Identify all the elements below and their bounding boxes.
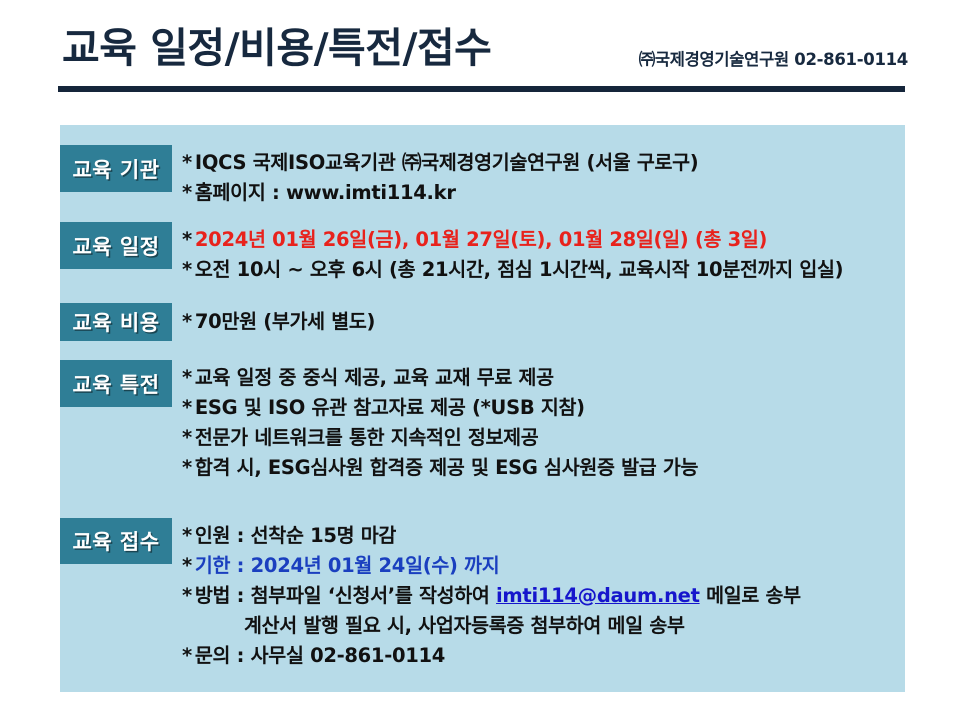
section-lines-organization: *IQCS 국제ISO교육기관 ㈜국제경영기술연구원 (서울 구로구) *홈페이… bbox=[182, 148, 902, 208]
section-label-organization: 교육 기관 bbox=[60, 145, 172, 192]
bullet-asterisk: * bbox=[182, 228, 192, 251]
bullet-asterisk: * bbox=[182, 524, 192, 547]
list-item-continuation: 계산서 발행 필요 시, 사업자등록증 첨부하여 메일 송부 bbox=[182, 611, 902, 641]
list-item: *오전 10시 ~ 오후 6시 (총 21시간, 점심 1시간씩, 교육시작 1… bbox=[182, 255, 902, 285]
bullet-asterisk: * bbox=[182, 396, 192, 419]
list-item: *ESG 및 ISO 유관 참고자료 제공 (*USB 지참) bbox=[182, 393, 902, 423]
list-item-method: *방법 : 첨부파일 ‘신청서’를 작성하여 imti114@daum.net … bbox=[182, 581, 902, 611]
list-item-text: IQCS 국제ISO교육기관 ㈜국제경영기술연구원 (서울 구로구) bbox=[195, 151, 699, 174]
bullet-asterisk: * bbox=[182, 584, 192, 607]
content-panel: 교육 기관 *IQCS 국제ISO교육기관 ㈜국제경영기술연구원 (서울 구로구… bbox=[60, 125, 905, 692]
list-item-text: 홈페이지 : www.imti114.kr bbox=[195, 181, 456, 204]
slide-header: 교육 일정/비용/특전/접수 ㈜국제경영기술연구원 02-861-0114 bbox=[0, 0, 960, 100]
header-contact-info: ㈜국제경영기술연구원 02-861-0114 bbox=[639, 46, 908, 70]
section-lines-cost: *70만원 (부가세 별도) bbox=[182, 307, 902, 337]
bullet-asterisk: * bbox=[182, 310, 192, 333]
list-item-text: 교육 일정 중 중식 제공, 교육 교재 무료 제공 bbox=[195, 366, 554, 389]
section-lines-benefits: *교육 일정 중 중식 제공, 교육 교재 무료 제공 *ESG 및 ISO 유… bbox=[182, 363, 902, 483]
section-label-application: 교육 접수 bbox=[60, 518, 172, 564]
list-item-deadline: *기한 : 2024년 01월 24일(수) 까지 bbox=[182, 551, 902, 581]
bullet-asterisk: * bbox=[182, 181, 192, 204]
list-item-text: ESG 및 ISO 유관 참고자료 제공 (*USB 지참) bbox=[195, 396, 585, 419]
list-item: *IQCS 국제ISO교육기관 ㈜국제경영기술연구원 (서울 구로구) bbox=[182, 148, 902, 178]
bullet-asterisk: * bbox=[182, 644, 192, 667]
bullet-asterisk: * bbox=[182, 366, 192, 389]
list-item-inquiry: *문의 : 사무실 02-861-0114 bbox=[182, 641, 902, 671]
list-item: *인원 : 선착순 15명 마감 bbox=[182, 521, 902, 551]
section-label-benefits: 교육 특전 bbox=[60, 360, 172, 407]
bullet-asterisk: * bbox=[182, 554, 192, 577]
bullet-asterisk: * bbox=[182, 258, 192, 281]
list-item: *교육 일정 중 중식 제공, 교육 교재 무료 제공 bbox=[182, 363, 902, 393]
list-item-text-before: 방법 : 첨부파일 ‘신청서’를 작성하여 bbox=[195, 584, 496, 607]
list-item-text: 인원 : 선착순 15명 마감 bbox=[195, 524, 396, 547]
header-divider bbox=[58, 86, 905, 92]
list-item-text: 계산서 발행 필요 시, 사업자등록증 첨부하여 메일 송부 bbox=[244, 614, 685, 637]
bullet-asterisk: * bbox=[182, 426, 192, 449]
section-label-cost: 교육 비용 bbox=[60, 303, 172, 341]
list-item-text: 2024년 01월 26일(금), 01월 27일(토), 01월 28일(일)… bbox=[195, 228, 767, 251]
list-item: *홈페이지 : www.imti114.kr bbox=[182, 178, 902, 208]
list-item-text-after: 메일로 송부 bbox=[700, 584, 801, 607]
list-item-text: 70만원 (부가세 별도) bbox=[195, 310, 375, 333]
bullet-asterisk: * bbox=[182, 151, 192, 174]
list-item-text: 합격 시, ESG심사원 합격증 제공 및 ESG 심사원증 발급 가능 bbox=[195, 456, 698, 479]
list-item-text: 기한 : 2024년 01월 24일(수) 까지 bbox=[195, 554, 499, 577]
list-item-text: 전문가 네트워크를 통한 지속적인 정보제공 bbox=[195, 426, 538, 449]
section-label-schedule: 교육 일정 bbox=[60, 222, 172, 269]
page-title: 교육 일정/비용/특전/접수 bbox=[62, 14, 491, 74]
list-item: *70만원 (부가세 별도) bbox=[182, 307, 902, 337]
list-item: *합격 시, ESG심사원 합격증 제공 및 ESG 심사원증 발급 가능 bbox=[182, 453, 902, 483]
list-item-text: 문의 : 사무실 02-861-0114 bbox=[195, 644, 445, 667]
email-link[interactable]: imti114@daum.net bbox=[496, 584, 700, 607]
section-lines-schedule: *2024년 01월 26일(금), 01월 27일(토), 01월 28일(일… bbox=[182, 225, 902, 285]
section-lines-application: *인원 : 선착순 15명 마감 *기한 : 2024년 01월 24일(수) … bbox=[182, 521, 902, 671]
list-item-highlight: *2024년 01월 26일(금), 01월 27일(토), 01월 28일(일… bbox=[182, 225, 902, 255]
bullet-asterisk: * bbox=[182, 456, 192, 479]
list-item-text: 오전 10시 ~ 오후 6시 (총 21시간, 점심 1시간씩, 교육시작 10… bbox=[195, 258, 843, 281]
list-item: *전문가 네트워크를 통한 지속적인 정보제공 bbox=[182, 423, 902, 453]
